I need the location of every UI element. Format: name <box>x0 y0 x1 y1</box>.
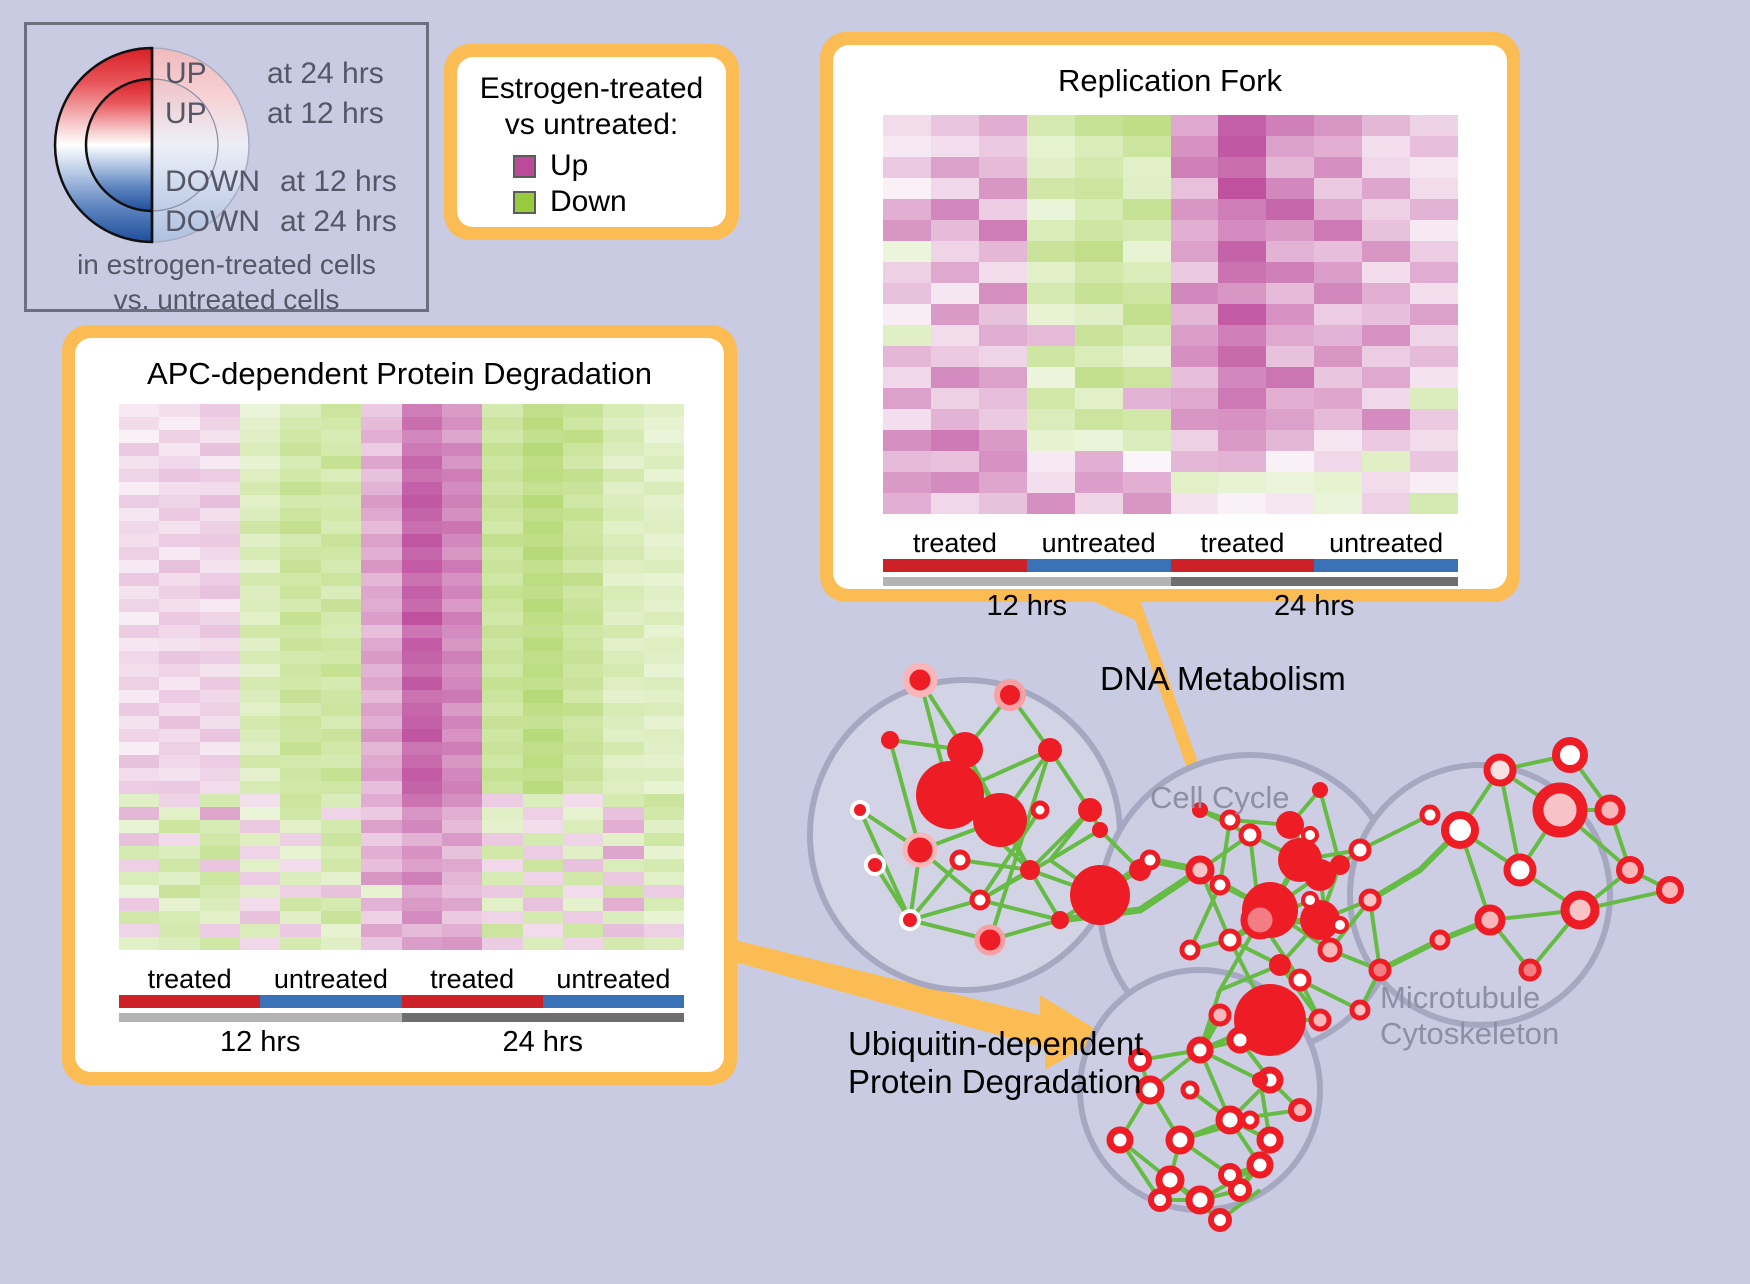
heatmap-cell <box>644 807 684 820</box>
heatmap-cell <box>644 443 684 456</box>
heatmap-cell <box>280 820 320 833</box>
heatmap-cell <box>361 547 401 560</box>
heatmap-cell <box>321 664 361 677</box>
heatmap-cell <box>159 560 199 573</box>
heatmap-cell <box>1027 304 1075 325</box>
heatmap-cell <box>321 625 361 638</box>
heatmap-cell <box>523 443 563 456</box>
heatmap-cell <box>159 859 199 872</box>
heatmap-cell <box>1075 367 1123 388</box>
heatmap-cell <box>883 409 931 430</box>
heatmap-cell <box>523 560 563 573</box>
heatmap-cell <box>321 833 361 846</box>
heatmap-cell <box>159 508 199 521</box>
heatmap-cell <box>442 573 482 586</box>
legend-time-up-24: at 24 hrs <box>267 57 384 91</box>
heatmap-cell <box>1266 430 1314 451</box>
heatmap-cell <box>644 586 684 599</box>
heatmap-cell <box>1027 241 1075 262</box>
heatmap-cell <box>1410 430 1458 451</box>
heatmap-cell <box>321 690 361 703</box>
heatmap-cell <box>563 729 603 742</box>
heatmap-cell <box>523 417 563 430</box>
heatmap-cell <box>523 469 563 482</box>
heatmap-cell <box>1362 136 1410 157</box>
heatmap-cell <box>482 638 522 651</box>
heatmap-cell <box>644 521 684 534</box>
time-label: 12 hrs <box>119 1026 402 1059</box>
heatmap-cell <box>159 794 199 807</box>
heatmap-cell <box>280 846 320 859</box>
heatmap-cell <box>1314 325 1362 346</box>
heatmap-cell <box>321 612 361 625</box>
heatmap-cell <box>442 911 482 924</box>
heatmap-cell <box>280 833 320 846</box>
heatmap-cell <box>119 911 159 924</box>
heatmap-cell <box>1266 325 1314 346</box>
heatmap-cell <box>240 547 280 560</box>
heatmap-cell <box>644 417 684 430</box>
heatmap-cell <box>402 677 442 690</box>
heatmap-cell <box>361 924 401 937</box>
heatmap-cell <box>442 820 482 833</box>
heatmap-cell <box>1171 136 1219 157</box>
condition-label: untreated <box>1027 528 1171 559</box>
heatmap-cell <box>603 430 643 443</box>
heatmap-cell <box>200 404 240 417</box>
heatmap-cell <box>402 872 442 885</box>
condition-label: treated <box>119 964 260 995</box>
heatmap-cell <box>644 833 684 846</box>
heatmap-cell <box>979 304 1027 325</box>
heatmap-cell <box>523 482 563 495</box>
heatmap-cell <box>1362 451 1410 472</box>
heatmap-cell <box>280 755 320 768</box>
heatmap-cell <box>931 304 979 325</box>
heatmap-cell <box>1218 472 1266 493</box>
heatmap-cell <box>979 136 1027 157</box>
heatmap-cell <box>482 560 522 573</box>
heatmap-cell <box>603 924 643 937</box>
heatmap-cell <box>402 573 442 586</box>
heatmap-cell <box>644 534 684 547</box>
heatmap-cell <box>1027 283 1075 304</box>
heatmap-cell <box>523 716 563 729</box>
heatmap-cell <box>1218 430 1266 451</box>
heatmap-cell <box>523 742 563 755</box>
heatmap-cell <box>280 599 320 612</box>
heatmap-cell <box>280 729 320 742</box>
heatmap-cell <box>1075 178 1123 199</box>
heatmap-cell <box>361 573 401 586</box>
heatmap-cell <box>1410 346 1458 367</box>
heatmap-cell <box>402 768 442 781</box>
heatmap-cell <box>563 716 603 729</box>
heatmap-cell <box>159 495 199 508</box>
heatmap-cell <box>931 199 979 220</box>
heatmap-cell <box>361 885 401 898</box>
heatmap-cell <box>1218 283 1266 304</box>
heatmap-cell <box>402 807 442 820</box>
heatmap-cell <box>883 262 931 283</box>
heatmap-cell <box>159 651 199 664</box>
heatmap-cell <box>361 690 401 703</box>
heatmap-cell <box>402 508 442 521</box>
heatmap-cell <box>159 547 199 560</box>
heatmap-cell <box>119 833 159 846</box>
heatmap-cell <box>563 859 603 872</box>
heatmap-cell <box>1266 220 1314 241</box>
heatmap-cell <box>200 443 240 456</box>
heatmap-cell <box>159 820 199 833</box>
heatmap-cell <box>442 703 482 716</box>
heatmap-cell <box>200 469 240 482</box>
heatmap-cell <box>361 404 401 417</box>
heatmap-cell <box>280 430 320 443</box>
heatmap-cell <box>280 924 320 937</box>
heatmap-cell <box>482 417 522 430</box>
heatmap-cell <box>119 599 159 612</box>
heatmap-cell <box>563 807 603 820</box>
heatmap-cell <box>482 547 522 560</box>
heatmap-cell <box>119 482 159 495</box>
heatmap-cell <box>1027 136 1075 157</box>
heatmap-cell <box>979 157 1027 178</box>
heatmap-cell <box>603 495 643 508</box>
heatmap-cell <box>280 508 320 521</box>
heatmap-cell <box>931 136 979 157</box>
up-label: Up <box>550 149 588 183</box>
heatmap-cell <box>644 430 684 443</box>
heatmap-cell <box>200 872 240 885</box>
heatmap-cell <box>523 859 563 872</box>
heatmap-cell <box>1171 199 1219 220</box>
heatmap-cell <box>523 755 563 768</box>
heatmap-cell <box>280 521 320 534</box>
heatmap-cell <box>321 482 361 495</box>
heatmap-cell <box>402 495 442 508</box>
apc-time-labels: 12 hrs 24 hrs <box>119 1026 684 1059</box>
heatmap-cell <box>563 937 603 950</box>
heatmap-cell <box>563 924 603 937</box>
heatmap-cell <box>563 690 603 703</box>
heatmap-cell <box>159 833 199 846</box>
condition-label: treated <box>402 964 543 995</box>
heatmap-cell <box>1362 493 1410 514</box>
heatmap-cell <box>321 768 361 781</box>
heatmap-cell <box>119 612 159 625</box>
heatmap-cell <box>361 937 401 950</box>
heatmap-cell <box>240 417 280 430</box>
heatmap-cell <box>321 430 361 443</box>
condition-label: untreated <box>1314 528 1458 559</box>
heatmap-cell <box>280 859 320 872</box>
heatmap-cell <box>1362 220 1410 241</box>
heatmap-cell <box>200 807 240 820</box>
heatmap-cell <box>979 199 1027 220</box>
heatmap-cell <box>603 664 643 677</box>
heatmap-cell <box>563 651 603 664</box>
heatmap-cell <box>482 820 522 833</box>
heatmap-cell <box>979 493 1027 514</box>
heatmap-cell <box>200 677 240 690</box>
heatmap-cell <box>523 703 563 716</box>
heatmap-cell <box>200 833 240 846</box>
heatmap-cell <box>603 677 643 690</box>
heatmap-cell <box>280 612 320 625</box>
heatmap-cell <box>361 859 401 872</box>
heatmap-cell <box>159 703 199 716</box>
heatmap-cell <box>280 937 320 950</box>
heatmap-cell <box>119 885 159 898</box>
heatmap-cell <box>482 768 522 781</box>
heatmap-cell <box>883 472 931 493</box>
heatmap-cell <box>361 443 401 456</box>
heatmap-cell <box>523 638 563 651</box>
heatmap-cell <box>1410 409 1458 430</box>
heatmap-cell <box>119 781 159 794</box>
heatmap-cell <box>563 612 603 625</box>
heatmap-cell <box>361 729 401 742</box>
heatmap-cell <box>603 768 643 781</box>
heatmap-cell <box>1362 367 1410 388</box>
heatmap-cell <box>361 742 401 755</box>
heatmap-cell <box>200 859 240 872</box>
heatmap-cell <box>442 768 482 781</box>
heatmap-cell <box>883 136 931 157</box>
heatmap-cell <box>402 859 442 872</box>
heatmap-cell <box>1075 136 1123 157</box>
heatmap-cell <box>603 703 643 716</box>
heatmap-cell <box>280 911 320 924</box>
heatmap-cell <box>523 729 563 742</box>
heatmap-cell <box>402 469 442 482</box>
heatmap-cell <box>361 482 401 495</box>
heatmap-cell <box>482 846 522 859</box>
replication-fork-condition-bar <box>883 559 1458 572</box>
heatmap-cell <box>442 638 482 651</box>
heatmap-cell <box>240 612 280 625</box>
heatmap-cell <box>402 456 442 469</box>
heatmap-cell <box>523 846 563 859</box>
heatmap-cell <box>321 885 361 898</box>
heatmap-cell <box>979 178 1027 199</box>
heatmap-cell <box>240 443 280 456</box>
heatmap-cell <box>402 638 442 651</box>
heatmap-cell <box>280 586 320 599</box>
heatmap-cell <box>1314 388 1362 409</box>
heatmap-cell <box>361 612 401 625</box>
heatmap-cell <box>1218 451 1266 472</box>
heatmap-cell <box>1410 388 1458 409</box>
heatmap-cell <box>119 495 159 508</box>
cluster-label-ubiquitin-degradation: Ubiquitin-dependent Protein Degradation <box>848 1025 1143 1101</box>
heatmap-cell <box>240 573 280 586</box>
condition-bar-segment <box>883 559 1027 572</box>
heatmap-cell <box>1362 262 1410 283</box>
heatmap-cell <box>119 417 159 430</box>
heatmap-cell <box>361 638 401 651</box>
heatmap-cell <box>1171 472 1219 493</box>
heatmap-cell <box>603 846 643 859</box>
estrogen-key-inner: Estrogen-treated vs untreated: Up Down <box>457 57 726 227</box>
heatmap-cell <box>442 846 482 859</box>
heatmap-cell <box>442 586 482 599</box>
heatmap-cell <box>119 534 159 547</box>
heatmap-cell <box>1218 409 1266 430</box>
heatmap-cell <box>482 885 522 898</box>
condition-label: treated <box>1171 528 1315 559</box>
heatmap-cell <box>361 716 401 729</box>
heatmap-cell <box>321 573 361 586</box>
heatmap-cell <box>361 872 401 885</box>
legend-time-down-24: at 24 hrs <box>280 205 397 239</box>
heatmap-cell <box>1362 472 1410 493</box>
heatmap-cell <box>321 534 361 547</box>
heatmap-cell <box>240 885 280 898</box>
heatmap-cell <box>931 493 979 514</box>
heatmap-cell <box>1171 430 1219 451</box>
condition-label: untreated <box>543 964 684 995</box>
legend-item-down: Down <box>513 185 726 219</box>
heatmap-cell <box>644 898 684 911</box>
heatmap-cell <box>442 456 482 469</box>
heatmap-cell <box>361 495 401 508</box>
heatmap-cell <box>644 716 684 729</box>
heatmap-cell <box>883 178 931 199</box>
heatmap-cell <box>523 651 563 664</box>
heatmap-cell <box>442 924 482 937</box>
heatmap-cell <box>603 469 643 482</box>
heatmap-cell <box>1218 199 1266 220</box>
heatmap-cell <box>1123 409 1171 430</box>
heatmap-cell <box>1123 367 1171 388</box>
heatmap-cell <box>402 404 442 417</box>
heatmap-cell <box>321 924 361 937</box>
heatmap-cell <box>321 807 361 820</box>
heatmap-cell <box>321 651 361 664</box>
heatmap-cell <box>119 430 159 443</box>
heatmap-cell <box>1075 430 1123 451</box>
heatmap-cell <box>321 781 361 794</box>
heatmap-cell <box>159 404 199 417</box>
heatmap-cell <box>159 885 199 898</box>
heatmap-cell <box>603 690 643 703</box>
heatmap-cell <box>1362 115 1410 136</box>
heatmap-cell <box>1314 262 1362 283</box>
heatmap-cell <box>1171 367 1219 388</box>
heatmap-cell <box>280 625 320 638</box>
heatmap-cell <box>159 443 199 456</box>
heatmap-cell <box>361 534 401 547</box>
heatmap-cell <box>200 521 240 534</box>
heatmap-cell <box>321 638 361 651</box>
replication-fork-panel: Replication Fork treated untreated treat… <box>820 32 1520 602</box>
heatmap-cell <box>1362 304 1410 325</box>
heatmap-cell <box>402 664 442 677</box>
heatmap-cell <box>402 651 442 664</box>
heatmap-cell <box>1362 199 1410 220</box>
heatmap-cell <box>402 690 442 703</box>
heatmap-cell <box>883 241 931 262</box>
heatmap-cell <box>883 346 931 367</box>
heatmap-cell <box>1218 304 1266 325</box>
heatmap-cell <box>159 729 199 742</box>
heatmap-cell <box>563 534 603 547</box>
heatmap-cell <box>442 560 482 573</box>
heatmap-cell <box>442 417 482 430</box>
estrogen-key-panel: Estrogen-treated vs untreated: Up Down <box>444 44 739 240</box>
heatmap-cell <box>1314 451 1362 472</box>
heatmap-cell <box>240 534 280 547</box>
heatmap-cell <box>1362 241 1410 262</box>
heatmap-cell <box>1075 472 1123 493</box>
heatmap-cell <box>979 115 1027 136</box>
heatmap-cell <box>1027 367 1075 388</box>
colormap-caption-line1: in estrogen-treated cells <box>27 247 426 282</box>
heatmap-cell <box>523 664 563 677</box>
heatmap-cell <box>1218 220 1266 241</box>
heatmap-cell <box>240 495 280 508</box>
microtubule-line1: Microtubule <box>1380 980 1559 1016</box>
heatmap-cell <box>321 846 361 859</box>
heatmap-cell <box>1171 346 1219 367</box>
condition-bar-segment <box>260 995 401 1008</box>
heatmap-cell <box>361 599 401 612</box>
heatmap-cell <box>931 325 979 346</box>
heatmap-cell <box>931 283 979 304</box>
heatmap-cell <box>119 820 159 833</box>
heatmap-cell <box>482 508 522 521</box>
cluster-label-microtubule-cytoskeleton: Microtubule Cytoskeleton <box>1380 980 1559 1051</box>
heatmap-cell <box>1410 283 1458 304</box>
heatmap-cell <box>442 612 482 625</box>
heatmap-cell <box>1075 304 1123 325</box>
heatmap-cell <box>523 534 563 547</box>
heatmap-cell <box>482 469 522 482</box>
heatmap-cell <box>1266 283 1314 304</box>
heatmap-cell <box>200 430 240 443</box>
heatmap-cell <box>1218 493 1266 514</box>
heatmap-cell <box>402 794 442 807</box>
legend-value-down-24: DOWN <box>165 205 260 239</box>
heatmap-cell <box>644 677 684 690</box>
heatmap-cell <box>442 430 482 443</box>
heatmap-cell <box>931 157 979 178</box>
heatmap-cell <box>523 586 563 599</box>
heatmap-cell <box>644 651 684 664</box>
heatmap-cell <box>603 833 643 846</box>
heatmap-cell <box>1027 472 1075 493</box>
heatmap-cell <box>931 367 979 388</box>
heatmap-cell <box>931 178 979 199</box>
heatmap-cell <box>644 573 684 586</box>
heatmap-cell <box>1123 325 1171 346</box>
heatmap-cell <box>523 625 563 638</box>
apc-degradation-inner: APC-dependent Protein Degradation treate… <box>75 338 724 1072</box>
heatmap-cell <box>321 417 361 430</box>
heatmap-cell <box>159 768 199 781</box>
heatmap-cell <box>563 794 603 807</box>
heatmap-cell <box>119 924 159 937</box>
heatmap-cell <box>321 560 361 573</box>
heatmap-cell <box>1171 388 1219 409</box>
heatmap-cell <box>280 885 320 898</box>
time-bar-segment <box>883 577 1171 586</box>
heatmap-cell <box>603 742 643 755</box>
heatmap-cell <box>442 794 482 807</box>
heatmap-cell <box>200 547 240 560</box>
